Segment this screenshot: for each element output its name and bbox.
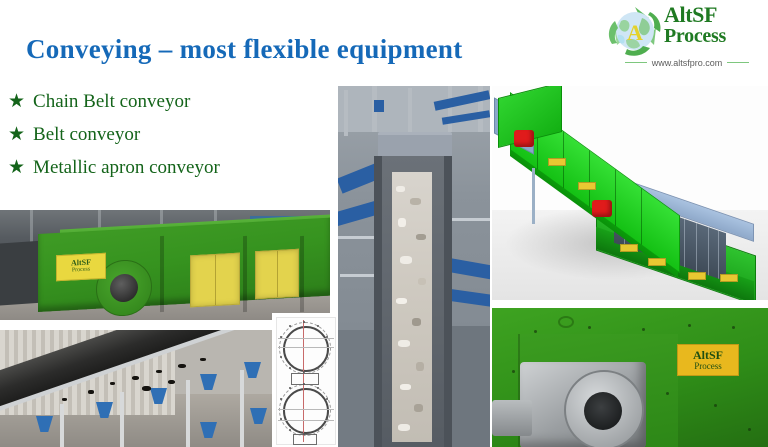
altsf-machine-label: AltSF Process	[677, 344, 739, 376]
panel-seam	[160, 236, 164, 312]
steel-column	[344, 90, 348, 136]
list-item: ★ Metallic apron conveyor	[8, 158, 338, 179]
dimension-line	[278, 338, 334, 339]
recycle-globe-icon: A	[604, 4, 666, 58]
waste-fleck	[414, 404, 423, 412]
label-line2: Process	[694, 361, 722, 372]
support-leg	[240, 370, 244, 447]
star-icon: ★	[8, 158, 25, 177]
waste-plant-photo	[338, 86, 490, 447]
waste-fleck	[396, 186, 405, 192]
waste-fleck	[398, 424, 410, 431]
drive-motor-upper	[514, 130, 534, 147]
waste-fleck	[418, 278, 426, 285]
logo-url-text: www.altsfpro.com	[652, 58, 723, 68]
material-debris	[88, 390, 94, 394]
material-debris	[156, 370, 162, 373]
cad-drawing	[272, 313, 338, 447]
label-line1: AltSF	[693, 349, 723, 361]
bolt-circle-lower	[279, 384, 331, 436]
yellow-inspection-panel	[255, 249, 299, 299]
logo-url: www.altsfpro.com	[612, 58, 762, 68]
bolt-circle-upper	[279, 322, 331, 374]
yellow-decal	[548, 158, 566, 166]
waste-fleck	[416, 362, 424, 371]
star-icon: ★	[8, 125, 25, 144]
blue-signage	[374, 100, 384, 112]
waste-fleck	[400, 384, 411, 390]
bullet-list: ★ Chain Belt conveyor ★ Belt conveyor ★ …	[8, 92, 338, 191]
yellow-decal	[688, 272, 706, 280]
panel-seam	[243, 236, 247, 312]
chain-belt-conveyor-photo: AltSF Process	[0, 210, 330, 320]
bullet-label: Chain Belt conveyor	[33, 92, 190, 113]
waste-fleck	[416, 234, 426, 240]
waste-fleck	[410, 198, 421, 205]
gearbox-photo: AltSF Process	[492, 308, 768, 447]
yellow-decal	[620, 244, 638, 252]
support-leg	[60, 404, 64, 447]
yellow-decal	[720, 274, 738, 282]
drive-motor-lower	[592, 200, 612, 217]
page-title: Conveying – most flexible equipment	[26, 34, 463, 65]
electric-motor	[492, 400, 532, 436]
bottom-plate-detail	[293, 434, 317, 445]
waste-fleck	[398, 340, 410, 347]
dimension-line	[278, 420, 334, 421]
waste-fleck	[396, 298, 407, 304]
waste-fleck	[400, 256, 412, 264]
material-debris	[178, 364, 186, 368]
logo-line2: Process	[664, 26, 762, 47]
plant-upper-structure	[338, 86, 490, 132]
3d-render	[492, 86, 768, 300]
bullet-label: Belt conveyor	[33, 125, 140, 146]
drawing-sheet	[276, 317, 336, 445]
company-logo: A AltSF Process www.altsfpro.com	[602, 2, 762, 74]
list-item: ★ Chain Belt conveyor	[8, 92, 338, 113]
rule-right	[727, 62, 749, 63]
material-debris	[200, 358, 206, 361]
belt-conveyor-photo	[0, 330, 272, 447]
logo-line1: AltSF	[664, 4, 762, 26]
yellow-inspection-panel	[190, 253, 240, 308]
yellow-decal	[648, 258, 666, 266]
waste-fleck	[412, 318, 421, 326]
yellow-decal	[578, 182, 596, 190]
shaft-bore	[584, 392, 622, 430]
material-debris	[168, 380, 175, 384]
svg-text:A: A	[627, 20, 643, 45]
material-debris	[62, 398, 67, 401]
steel-column	[448, 86, 452, 132]
altsf-machine-label: AltSF Process	[56, 253, 106, 282]
steel-column	[408, 88, 412, 132]
middle-plate-detail	[291, 373, 319, 385]
bullet-label: Metallic apron conveyor	[33, 158, 220, 179]
support-leg	[120, 392, 124, 447]
material-debris	[132, 376, 139, 380]
list-item: ★ Belt conveyor	[8, 125, 338, 146]
star-icon: ★	[8, 92, 25, 111]
centerline-horizontal	[278, 409, 334, 410]
material-debris	[110, 382, 115, 385]
support-leg	[532, 168, 535, 224]
waste-fleck	[398, 218, 406, 227]
floor-area	[450, 326, 490, 447]
support-leg	[186, 380, 190, 447]
label-line2: Process	[72, 267, 90, 275]
handrail	[446, 218, 490, 221]
slide-canvas: Conveying – most flexible equipment ★ Ch…	[0, 0, 768, 447]
rule-left	[625, 62, 647, 63]
panel-seam	[300, 236, 304, 312]
lifting-eye-icon	[558, 316, 574, 328]
centerline-horizontal	[278, 347, 334, 348]
waste-material-stream	[392, 172, 432, 442]
material-debris	[142, 386, 151, 391]
logo-wordmark: AltSF Process	[664, 4, 762, 47]
